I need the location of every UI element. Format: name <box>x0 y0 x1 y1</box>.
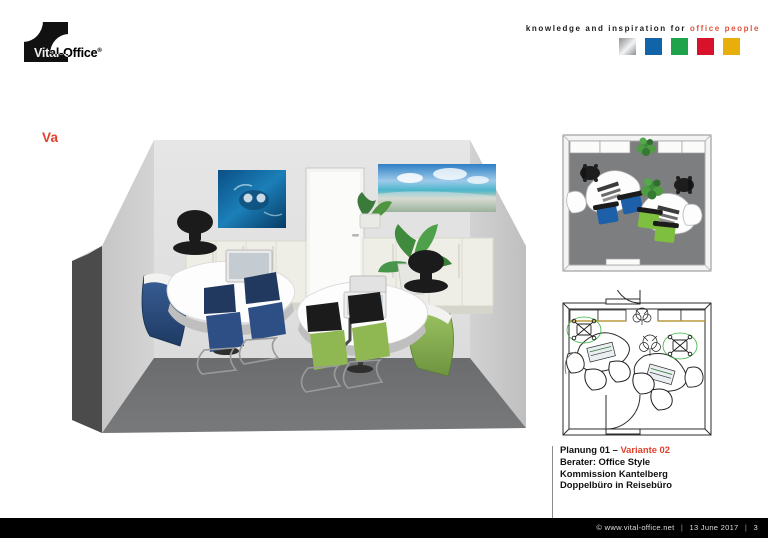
logo-registered-mark: ® <box>97 48 101 54</box>
caption-line-3: Kommission Kantelberg <box>560 468 760 480</box>
logo-wordmark: Vital-Office® <box>34 46 102 60</box>
footer-text: © www.vital-office.net | 13 June 2017 | … <box>596 523 758 532</box>
swatch-blue <box>645 38 662 55</box>
brand-color-swatches <box>619 38 740 55</box>
vital-office-logo: Vital-Office® <box>24 22 90 64</box>
footer-separator-1: | <box>677 523 687 532</box>
tagline-main-text: knowledge and inspiration for <box>526 24 686 33</box>
swatch-silver <box>619 38 636 55</box>
logo-wordmark-text: Vital-Office <box>34 46 97 60</box>
caption-plan-label: Planung 01 – <box>560 444 620 455</box>
caption-line-1: Planung 01 – Variante 02 <box>560 444 760 456</box>
office-3d-render <box>58 128 540 433</box>
swatch-green <box>671 38 688 55</box>
footer-date: 13 June 2017 <box>690 523 739 532</box>
footer-website[interactable]: www.vital-office.net <box>605 523 675 532</box>
caption-line-2: Berater: Office Style <box>560 456 760 468</box>
swatch-yellow <box>723 38 740 55</box>
caption-variant-label: Variante 02 <box>620 444 670 455</box>
floorplan-top-view[interactable] <box>558 131 716 277</box>
footer-copyright-symbol: © <box>596 523 602 532</box>
floorplan-cad-drawing[interactable] <box>558 290 716 440</box>
swatch-red <box>697 38 714 55</box>
caption-line-4: Doppelbüro in Reisebüro <box>560 479 760 491</box>
header-tagline: knowledge and inspiration for office peo… <box>526 24 760 33</box>
caption-divider <box>552 446 553 518</box>
footer-separator-2: | <box>741 523 751 532</box>
tagline-accent-text: office people <box>690 24 760 33</box>
footer-page-number: 3 <box>754 523 758 532</box>
caption-block: Planung 01 – Variante 02 Berater: Office… <box>560 444 760 491</box>
